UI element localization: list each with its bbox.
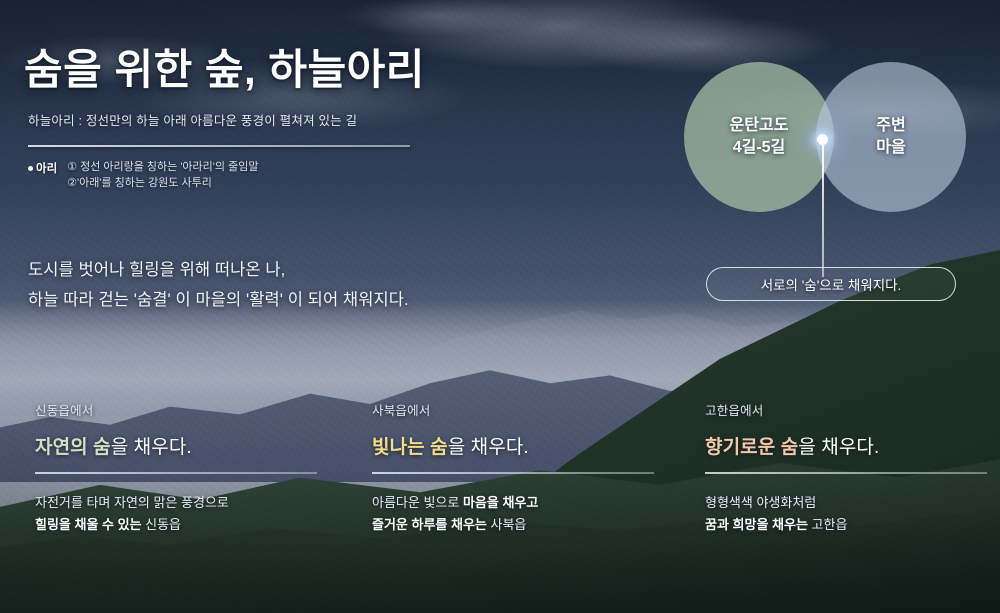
hero-banner: 숨을 위한 숲, 하늘아리 하늘아리 : 정선만의 하늘 아래 아름다운 풍경이… [0,0,1000,613]
town-headline-rest: 을 채우다. [798,437,879,458]
town-body-strong: 마음을 채우고 [463,495,538,510]
title-divider [28,145,410,147]
town-headline: 자연의 숨을 채우다. [35,432,335,459]
town-body-line-1: 형형색색 야생화처럼 [705,492,1000,514]
lead-paragraph: 도시를 벗어나 힐링을 위해 떠나온 나, 하늘 따라 걷는 '숨결' 이 마을… [28,255,409,315]
venn-callout-badge: 서로의 '숨'으로 채워지다. [706,267,956,301]
town-divider [372,472,654,474]
town-headline-highlight: 자연의 숨 [35,437,111,458]
town-body-line-2: 꿈과 희망을 채우는 고한읍 [705,514,1000,536]
town-body-strong: 힐링을 채울 수 있는 [35,517,142,532]
town-body-line-1: 자전거를 타며 자연의 맑은 풍경으로 [35,492,335,514]
town-headline-rest: 을 채우다. [448,437,529,458]
town-headline-highlight: 빛나는 숨 [372,437,448,458]
glossary-definition-2: ②'아래'를 칭하는 강원도 사투리 [67,176,258,192]
town-body-rest: 신동읍 [142,517,182,532]
town-divider [705,472,987,474]
glossary-term: 아리 [36,160,57,176]
bullet-icon [28,166,33,171]
lead-line-1: 도시를 벗어나 힐링을 위해 떠나온 나, [28,255,409,285]
glossary-definitions: ① 정선 아리랑을 칭하는 '아라리'의 줄임말 ②'아래'를 칭하는 강원도 … [67,160,258,191]
town-body: 자전거를 타며 자연의 맑은 풍경으로 힐링을 채울 수 있는 신동읍 [35,492,335,536]
venn-diagram: 운탄고도 4길-5길 주변 마을 [678,62,1000,227]
venn-circle-left-label: 운탄고도 4길-5길 [730,115,789,159]
town-column-gohan: 고한읍에서 향기로운 숨을 채우다. 형형색색 야생화처럼 꿈과 희망을 채우는… [705,400,1000,536]
town-headline: 향기로운 숨을 채우다. [705,432,1000,459]
town-body-line-2: 힐링을 채울 수 있는 신동읍 [35,514,335,536]
town-eyebrow: 신동읍에서 [35,400,335,419]
glossary-note: 아리 ① 정선 아리랑을 칭하는 '아라리'의 줄임말 ②'아래'를 칭하는 강… [28,160,258,191]
town-eyebrow: 사북읍에서 [372,400,672,419]
page-subtitle: 하늘아리 : 정선만의 하늘 아래 아름다운 풍경이 펼쳐져 있는 길 [28,110,357,129]
town-body-rest: 고한읍 [808,517,848,532]
venn-connector-line [822,142,824,277]
town-divider [35,472,317,474]
town-body-line-1: 아름다운 빛으로 마음을 채우고 [372,492,672,514]
town-eyebrow: 고한읍에서 [705,400,1000,419]
town-headline: 빛나는 숨을 채우다. [372,432,672,459]
glossary-definition-1: ① 정선 아리랑을 칭하는 '아라리'의 줄임말 [67,160,258,176]
town-headline-highlight: 향기로운 숨 [705,437,798,458]
town-body-rest: 아름다운 빛으로 [372,495,463,510]
lead-line-2: 하늘 따라 걷는 '숨결' 이 마을의 '활력' 이 되어 채워지다. [28,285,409,315]
town-column-sabuk: 사북읍에서 빛나는 숨을 채우다. 아름다운 빛으로 마음을 채우고 즐거운 하… [372,400,672,536]
town-body: 아름다운 빛으로 마음을 채우고 즐거운 하루를 채우는 사북읍 [372,492,672,536]
town-body-strong: 꿈과 희망을 채우는 [705,517,808,532]
venn-circle-right: 주변 마을 [816,62,966,212]
town-body: 형형색색 야생화처럼 꿈과 희망을 채우는 고한읍 [705,492,1000,536]
town-headline-rest: 을 채우다. [111,437,192,458]
venn-circle-left: 운탄고도 4길-5길 [684,62,834,212]
town-body-rest: 사북읍 [487,517,527,532]
town-columns: 신동읍에서 자연의 숨을 채우다. 자전거를 타며 자연의 맑은 풍경으로 힐링… [0,400,1000,560]
town-column-sindong: 신동읍에서 자연의 숨을 채우다. 자전거를 타며 자연의 맑은 풍경으로 힐링… [35,400,335,536]
town-body-line-2: 즐거운 하루를 채우는 사북읍 [372,514,672,536]
page-title: 숨을 위한 숲, 하늘아리 [24,36,425,97]
town-body-strong: 즐거운 하루를 채우는 [372,517,487,532]
venn-circle-right-label: 주변 마을 [876,115,905,159]
